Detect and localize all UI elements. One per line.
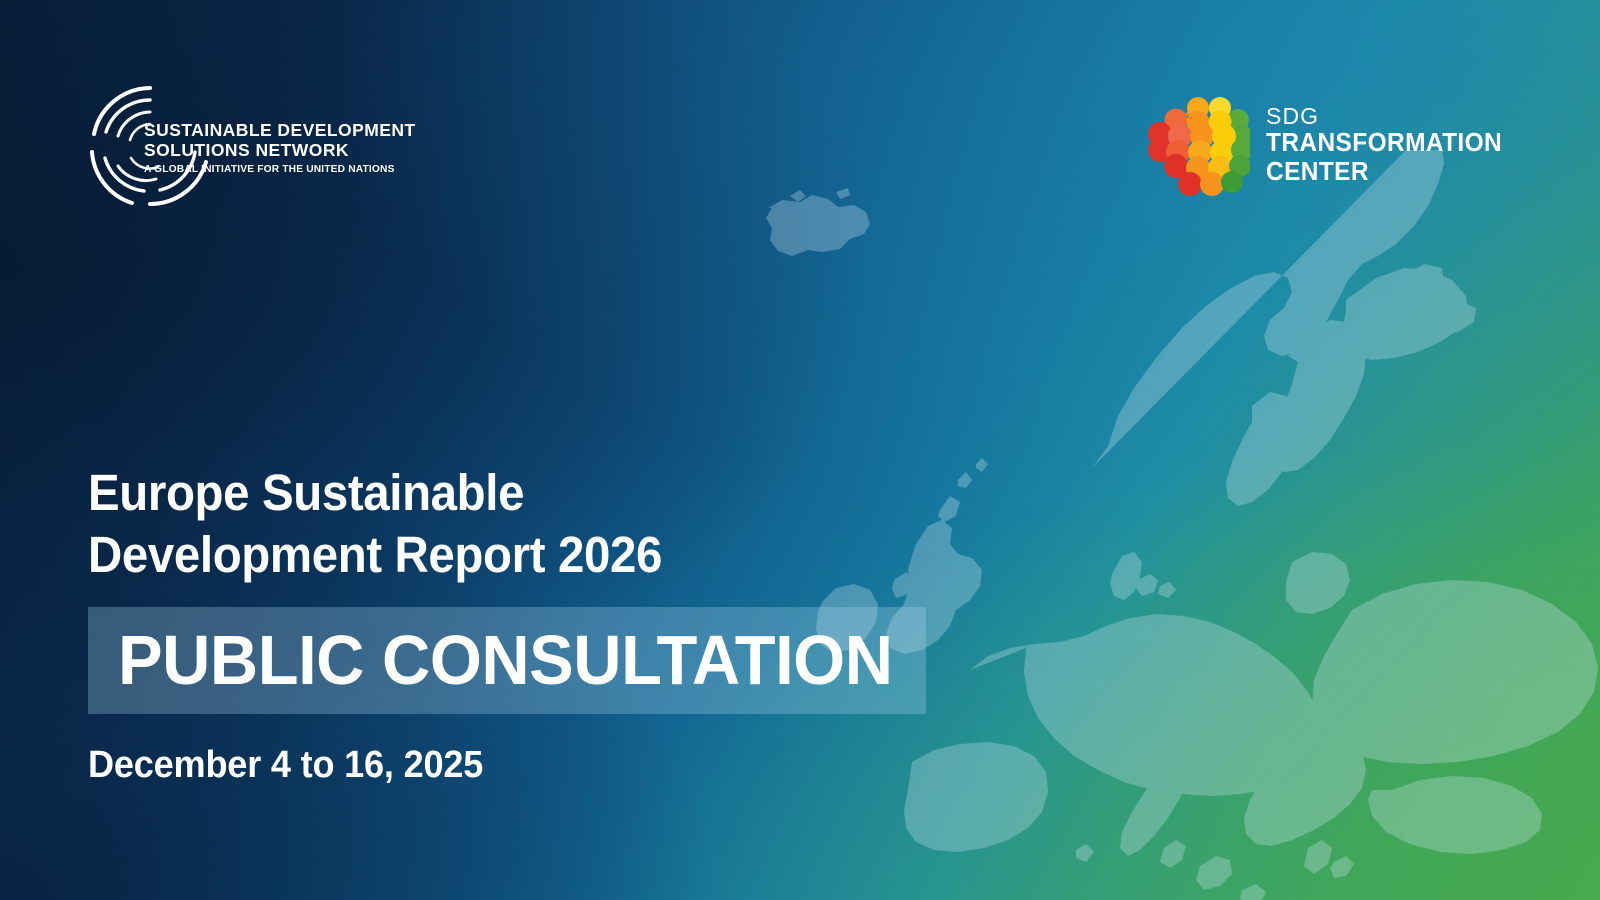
sdgtc-line-1: SDG <box>1266 104 1512 129</box>
sdsn-wordmark: SUSTAINABLE DEVELOPMENT SOLUTIONS NETWOR… <box>144 120 424 177</box>
sdgtc-line-3: CENTER <box>1266 158 1502 187</box>
sdg-transformation-center-wordmark: SDG TRANSFORMATION CENTER <box>1266 104 1512 187</box>
report-title-line-1: Europe Sustainable <box>88 462 925 524</box>
public-consultation-label: PUBLIC CONSULTATION <box>118 612 892 708</box>
sdgtc-line-2: TRANSFORMATION <box>1266 129 1502 158</box>
sdsn-line-2: SOLUTIONS NETWORK <box>144 140 424 160</box>
sdsn-line-1: SUSTAINABLE DEVELOPMENT <box>144 120 424 140</box>
report-title-line-2: Development Report 2026 <box>88 524 925 586</box>
sdsn-tagline: A GLOBAL INITIATIVE FOR THE UNITED NATIO… <box>144 162 424 177</box>
sdg-network-dots-icon <box>1146 90 1250 204</box>
consultation-date-range: December 4 to 16, 2025 <box>88 740 483 790</box>
promotional-banner: SUSTAINABLE DEVELOPMENT SOLUTIONS NETWOR… <box>0 0 1600 900</box>
sdsn-logo: SUSTAINABLE DEVELOPMENT SOLUTIONS NETWOR… <box>86 78 416 214</box>
sdg-transformation-center-logo: SDG TRANSFORMATION CENTER <box>1146 88 1496 206</box>
headline-block: Europe Sustainable Development Report 20… <box>88 462 988 586</box>
